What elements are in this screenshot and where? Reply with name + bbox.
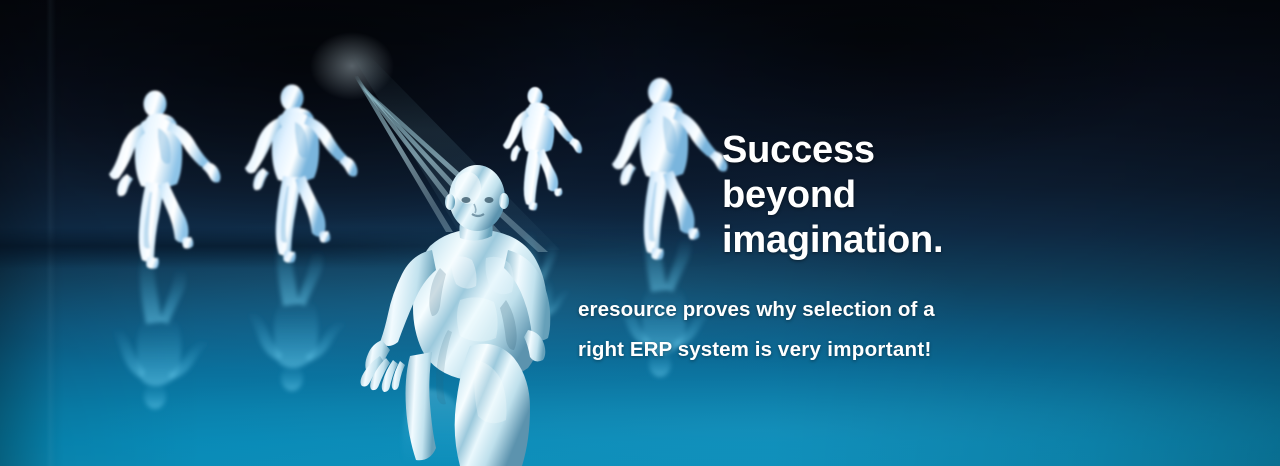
subheading-line-2-prefix: right ERP system is — [578, 338, 778, 361]
runner-back-distant — [503, 87, 582, 210]
ray-group — [310, 32, 560, 252]
chrome-neck — [459, 213, 492, 241]
chrome-ear-right — [499, 193, 509, 209]
hero-banner: Success beyond imagination. eresource pr… — [0, 0, 1280, 466]
runner-back-left — [109, 91, 221, 269]
headline-line-3: imagination. — [722, 218, 1192, 263]
chrome-ear-left — [445, 194, 455, 210]
subheading-line-1: eresource proves why selection of a — [578, 290, 1098, 330]
ray-3 — [358, 84, 516, 249]
subheading: eresource proves why selection of a righ… — [578, 290, 1098, 370]
chrome-highlights — [429, 256, 516, 423]
ray-4 — [360, 88, 548, 252]
chrome-hand-right — [524, 330, 545, 361]
chrome-eye-right — [485, 197, 494, 203]
headline-line-2: beyond — [722, 173, 1192, 218]
chrome-head — [449, 165, 505, 231]
chrome-arm-right — [504, 250, 550, 341]
ray-1 — [354, 76, 453, 232]
subheading-line-2: right ERP system is very important! — [578, 330, 1098, 370]
ray-origin-glow — [310, 32, 394, 100]
chrome-arm-left — [380, 250, 436, 346]
chrome-leg-left — [406, 352, 437, 460]
headline-line-1: Success — [722, 128, 1192, 173]
chrome-hand-left — [361, 340, 406, 392]
reflection-back-second — [248, 233, 345, 391]
headline: Success beyond imagination. — [722, 128, 1192, 263]
ray-halo — [350, 52, 560, 250]
reflection-lead-chrome — [402, 385, 512, 466]
runner-back-second — [245, 85, 358, 263]
reflection-back-left — [113, 251, 208, 409]
chrome-mouth — [472, 214, 484, 216]
ray-2 — [356, 80, 487, 243]
reflection-back-distant — [505, 231, 570, 336]
chrome-eye-left — [462, 197, 471, 203]
chrome-head-highlight — [455, 172, 481, 204]
chrome-nose — [474, 204, 476, 213]
runner-lead-chrome — [361, 165, 551, 466]
chrome-leg-right — [455, 344, 530, 466]
subheading-emphasis: very important! — [778, 338, 932, 361]
runner-back-right — [612, 78, 728, 260]
chrome-torso — [413, 229, 547, 381]
